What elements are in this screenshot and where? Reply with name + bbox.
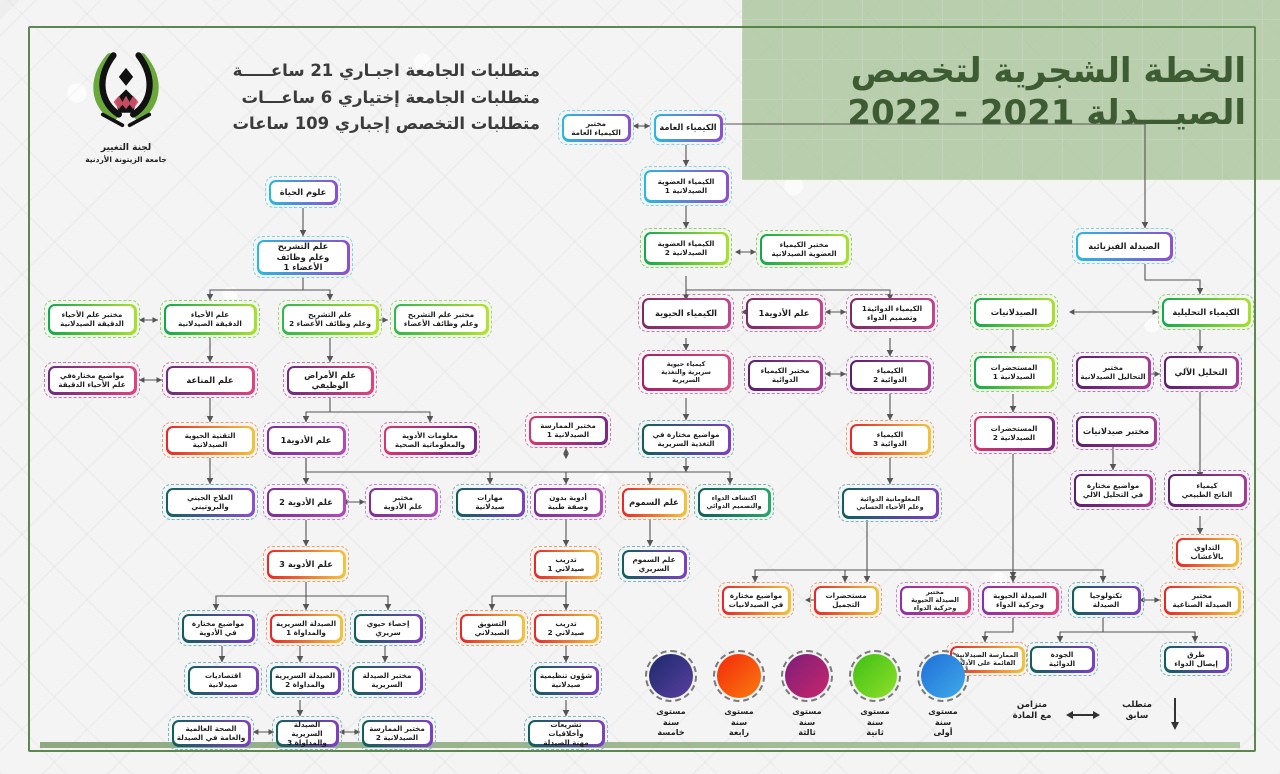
legend-color-circle xyxy=(713,650,765,702)
node-pharmacology-lab[interactable]: مختبر علم الأدوية xyxy=(365,484,441,520)
node-label: اكتشاف الدواء والتصميم الدوائي xyxy=(700,490,768,514)
node-pharmacoeconomics[interactable]: اقتصاديات صيدلانية xyxy=(184,662,262,698)
node-label: علم المناعة xyxy=(168,368,252,392)
node-clinical-pharmacy-1[interactable]: الصيدلة السريرية والمداواة 1 xyxy=(266,610,346,646)
node-label: كيمياء حيوية سريرية والتغذية السريرية xyxy=(644,356,728,388)
node-label: مستحضرات التجميل xyxy=(816,588,876,612)
node-label: التسويق الصيدلاني xyxy=(462,616,522,640)
legend-item-year2: مستوى سنة ثانية xyxy=(844,650,906,738)
node-label: تدريب صيدلاني 2 xyxy=(536,616,596,640)
node-label: الكيمياء الحيوية xyxy=(644,300,728,326)
node-natural-products[interactable]: كيمياء الناتج الطبيعي xyxy=(1164,470,1250,510)
node-pharmacy-practice-lab-2[interactable]: مختبر الممارسة الصيدلانية 2 xyxy=(358,716,436,750)
node-label: مختبر علم الأحياء الدقيقة الصيدلانية xyxy=(50,306,134,332)
node-label: التقنية الحيوية الصيدلانية xyxy=(168,428,252,452)
node-organic-chem-1[interactable]: الكيمياء العضوية الصيدلانية 1 xyxy=(640,166,732,206)
legend-label: مستوى سنة خامسة xyxy=(640,706,702,738)
node-pharmaceutics[interactable]: الصيدلانيات xyxy=(970,294,1058,330)
node-pharmacy-practice-lab-1[interactable]: مختبر الممارسة الصيدلانية 1 xyxy=(525,412,611,448)
node-label: علم الأدوية1 xyxy=(748,300,820,326)
node-label: العلاج الجيني والبروتيني xyxy=(168,490,252,514)
node-drug-selected-topics[interactable]: مواضيع مختارة في الأدوية xyxy=(178,610,258,646)
node-pharmacology-2[interactable]: علم الأدوية 2 xyxy=(263,484,349,520)
node-label: الصحة العالمية والعامة في الصيدلة xyxy=(174,722,248,744)
node-label: معلومات الأدوية والمعلوماتية الصحية xyxy=(386,428,474,452)
node-immunology[interactable]: علم المناعة xyxy=(162,362,258,398)
node-label: تشريعات وأخلاقيات مهنة الصيدلة xyxy=(530,722,602,744)
node-label: الكيمياء العامة xyxy=(656,116,720,139)
node-label: علم الأدوية 3 xyxy=(269,552,343,576)
legend-color-circle xyxy=(645,650,697,702)
node-label: اقتصاديات صيدلانية xyxy=(190,668,256,692)
node-label: الصيدلة الحيوية وحركية الدواء xyxy=(984,588,1056,612)
node-label: الصيدلة السريرية والمداواة 2 xyxy=(272,668,338,692)
node-pharmacology-3[interactable]: علم الأدوية 3 xyxy=(263,546,349,582)
node-pharmacy-skills[interactable]: مهارات صيدلانية xyxy=(452,484,528,520)
requirements-summary: متطلبات الجامعة اجبـاري 21 ساعـــــة متط… xyxy=(180,58,540,138)
node-instrumental-topics[interactable]: مواضيع مختارة في التحليل الالي xyxy=(1070,470,1156,510)
prerequisite-arrow-icon xyxy=(1168,696,1182,730)
node-label: مختبر علم التشريح وعلم وظائف الأعضاء xyxy=(396,306,486,332)
node-label: الكيمياء التحليلية xyxy=(1164,300,1248,324)
corequisite-arrow-icon xyxy=(1066,708,1100,722)
node-label: مختبر الكيمياء العامة xyxy=(564,116,628,139)
node-analytical-chemistry[interactable]: الكيمياء التحليلية xyxy=(1158,294,1254,330)
node-field-training-1[interactable]: تدريب صيدلاني 1 xyxy=(530,546,602,582)
node-pharmaceutics-lab[interactable]: مختبر صيدلانيات xyxy=(1072,412,1160,450)
node-industrial-pharmacy-lab[interactable]: مختبر الصيدلة الصناعية xyxy=(1160,582,1244,618)
node-clinical-pharmacy-3[interactable]: الصيدلة السريرية والمداواة 3 xyxy=(272,716,342,750)
node-label: الكيمياء العضوية الصيدلانية 2 xyxy=(646,234,726,262)
node-biopharm-lab[interactable]: مختبر الصيدلة الحيوية وحركية الدواء xyxy=(896,582,974,618)
node-biotechnology[interactable]: التقنية الحيوية الصيدلانية xyxy=(162,422,258,458)
legend-item-year1: مستوى سنة أولى xyxy=(912,650,974,738)
node-regulatory-affairs[interactable]: شؤون تنظيمية صيدلانية xyxy=(530,662,602,698)
requirement-line-2: متطلبات الجامعة إختياري 6 ساعـــات xyxy=(180,85,540,112)
node-label: التحليل الآلي xyxy=(1166,358,1236,386)
node-label: مختبر الصيدلة الصناعية xyxy=(1166,588,1238,612)
node-organic-chem-lab[interactable]: مختبر الكيمياء العضوية الصيدلانية xyxy=(756,230,852,268)
node-med-chem-2[interactable]: الكيمياء الدوائية 2 xyxy=(846,356,934,394)
node-label: علم التشريح وعلم وظائف الأعضاء 2 xyxy=(284,306,376,332)
node-label: الكيمياء الدوائية 2 xyxy=(852,362,928,388)
node-anatomy-physiology-lab[interactable]: مختبر علم التشريح وعلم وظائف الأعضاء xyxy=(390,300,492,338)
node-biopharmaceutics[interactable]: الصيدلة الحيوية وحركية الدواء xyxy=(978,582,1062,618)
node-pharm-analysis-lab[interactable]: مختبر التحاليل الصيدلانية xyxy=(1072,352,1154,392)
node-clinical-nutrition-topics[interactable]: مواضيع مختارة في التغذية السريرية xyxy=(638,420,734,458)
node-label: مختبر التحاليل الصيدلانية xyxy=(1078,358,1148,386)
node-label: طرق إيصال الدواء xyxy=(1166,648,1226,670)
node-pharm-marketing[interactable]: التسويق الصيدلاني xyxy=(456,610,528,646)
node-label: مواضيع مختارة في الأدوية xyxy=(184,616,252,640)
node-instrumental-analysis[interactable]: التحليل الآلي xyxy=(1160,352,1242,392)
node-general-chemistry[interactable]: الكيمياء العامة xyxy=(650,110,726,145)
node-med-chem-1[interactable]: الكيمياء الدوائية1 وتصميم الدواء xyxy=(846,294,938,332)
node-clinical-pharmacy-lab[interactable]: مختبر الصيدلة السريرية xyxy=(348,662,426,698)
node-label: علم الأحياء الدقيقة الصيدلانية xyxy=(166,306,254,332)
node-label: المستحضرات الصيدلانية 2 xyxy=(976,418,1052,448)
page-title: الخطة الشجرية لتخصص الصيـــدلة 2021 - 20… xyxy=(760,50,1260,134)
node-label: كيمياء الناتج الطبيعي xyxy=(1170,476,1244,504)
relationship-legend: متزامن مع المادة متطلب سابق xyxy=(1000,690,1220,750)
node-label: الجودة الدوائية xyxy=(1032,648,1092,670)
node-label: إحصاء حيوي سريري xyxy=(356,616,420,640)
requirement-line-1: متطلبات الجامعة اجبـاري 21 ساعـــــة xyxy=(180,58,540,85)
node-label: تدريب صيدلاني 1 xyxy=(536,552,596,576)
legend-label: مستوى سنة أولى xyxy=(912,706,974,738)
legend-label: مستوى سنة ثالثة xyxy=(776,706,838,738)
logo-caption-committee: لجنة التغيير xyxy=(78,143,174,154)
legend-corequisite-label: متزامن مع المادة xyxy=(1000,700,1064,722)
node-label: مختبر الكيمياء الدوائية xyxy=(750,362,820,388)
node-pharmacology-1-left[interactable]: علم الأدوية1 xyxy=(263,422,349,458)
node-biochemistry[interactable]: الكيمياء الحيوية xyxy=(638,294,734,332)
node-herbal-medicine[interactable]: التداوي بالأعشاب xyxy=(1172,534,1242,570)
node-med-chem-3[interactable]: الكيمياء الدوائية 3 xyxy=(846,420,934,458)
node-label: شؤون تنظيمية صيدلانية xyxy=(536,668,596,692)
node-drug-information[interactable]: معلومات الأدوية والمعلوماتية الصحية xyxy=(380,422,480,458)
node-label: مختبر الممارسة الصيدلانية 1 xyxy=(531,418,605,442)
node-label: علوم الحياة xyxy=(271,182,335,202)
node-clinical-biochem-nutrition[interactable]: كيمياء حيوية سريرية والتغذية السريرية xyxy=(638,350,734,394)
node-pharmaceutics-topics[interactable]: مواضيع مختارة في الصيدلانيات xyxy=(718,582,794,618)
node-label: علم التشريح وعلم وظائف الأعضاء 1 xyxy=(259,242,347,272)
year-level-legend: مستوى سنة خامسة مستوى سنة رابعة مستوى سن… xyxy=(640,640,980,750)
infographic-canvas: الخطة الشجرية لتخصص الصيـــدلة 2021 - 20… xyxy=(0,0,1280,774)
university-logo: لجنة التغيير جامعة الزيتونة الأردنية xyxy=(78,50,174,162)
node-field-training-2[interactable]: تدريب صيدلاني 2 xyxy=(530,610,602,646)
legend-label: مستوى سنة رابعة xyxy=(708,706,770,738)
node-label: مختبر الصيدلة السريرية xyxy=(354,668,420,692)
node-label: مختبر الممارسة الصيدلانية 2 xyxy=(364,722,430,744)
legend-item-year5: مستوى سنة خامسة xyxy=(640,650,702,738)
node-life-sciences[interactable]: علوم الحياة xyxy=(265,176,341,208)
node-clinical-pharmacy-2[interactable]: الصيدلة السريرية والمداواة 2 xyxy=(266,662,344,698)
node-global-health[interactable]: الصحة العالمية والعامة في الصيدلة xyxy=(168,716,254,750)
node-label: مختبر علم الأدوية xyxy=(371,490,435,514)
node-drug-delivery[interactable]: طرق إيصال الدواء xyxy=(1160,642,1232,676)
legend-color-circle xyxy=(781,650,833,702)
node-pharm-preparations-1[interactable]: المستحضرات الصيدلانية 1 xyxy=(970,352,1058,392)
node-otc-drugs[interactable]: أدوية بدون وصفة طبية xyxy=(530,484,606,520)
node-label: المستحضرات الصيدلانية 1 xyxy=(976,358,1052,386)
node-label: مختبر الصيدلة الحيوية وحركية الدواء xyxy=(902,588,968,612)
node-legislation-ethics[interactable]: تشريعات وأخلاقيات مهنة الصيدلة xyxy=(524,716,608,750)
title-line-2: الصيـــدلة 2021 - 2022 xyxy=(760,92,1260,134)
node-micro-selected-topics[interactable]: مواضيع مختارةفي علم الأحياء الدقيقة xyxy=(44,362,140,398)
node-pharmacoinformatics[interactable]: المعلوماتية الدوائية وعلم الأحياء الحساب… xyxy=(838,484,942,522)
node-label: مهارات صيدلانية xyxy=(458,490,522,514)
node-label: الكيمياء الدوائية1 وتصميم الدواء xyxy=(852,300,932,326)
legend-item-year4: مستوى سنة رابعة xyxy=(708,650,770,738)
node-label: أدوية بدون وصفة طبية xyxy=(536,490,600,514)
node-label: مختبر صيدلانيات xyxy=(1078,418,1154,444)
legend-prerequisite-label: متطلب سابق xyxy=(1112,700,1162,722)
legend-label: مستوى سنة ثانية xyxy=(844,706,906,738)
node-clinical-toxicology[interactable]: علم السموم السريري xyxy=(618,546,690,582)
node-label: الكيمياء العضوية الصيدلانية 1 xyxy=(646,172,726,200)
node-label: مختبر الكيمياء العضوية الصيدلانية xyxy=(762,236,846,262)
node-label: الصيدلة الفيزيائية xyxy=(1078,234,1170,258)
node-biostatistics[interactable]: إحصاء حيوي سريري xyxy=(350,610,426,646)
node-pharm-microbiology-lab[interactable]: مختبر علم الأحياء الدقيقة الصيدلانية xyxy=(44,300,140,338)
node-drug-discovery[interactable]: اكتشاف الدواء والتصميم الدوائي xyxy=(694,484,774,520)
node-pharmacology-1-mid[interactable]: علم الأدوية1 xyxy=(742,294,826,332)
node-drug-quality[interactable]: الجودة الدوائية xyxy=(1026,642,1098,676)
node-label: تكنولوجيا الصيدلة xyxy=(1074,588,1138,612)
node-pathophysiology[interactable]: علم الأمراض الوظيفي xyxy=(283,362,377,398)
node-pharm-technology[interactable]: تكنولوجيا الصيدلة xyxy=(1068,582,1144,618)
node-physical-pharmacy[interactable]: الصيدلة الفيزيائية xyxy=(1072,228,1176,264)
legend-color-circle xyxy=(849,650,901,702)
node-label: علم الأدوية 2 xyxy=(269,490,343,514)
node-label: الصيدلة السريرية والمداواة 3 xyxy=(278,722,336,744)
node-label: علم الأمراض الوظيفي xyxy=(289,368,371,392)
node-label: مواضيع مختارة في الصيدلانيات xyxy=(724,588,788,612)
node-pharm-preparations-2[interactable]: المستحضرات الصيدلانية 2 xyxy=(970,412,1058,454)
node-toxicology[interactable]: علم السموم xyxy=(618,484,690,520)
node-gene-protein-therapy[interactable]: العلاج الجيني والبروتيني xyxy=(162,484,258,520)
logo-caption-university: جامعة الزيتونة الأردنية xyxy=(78,155,174,164)
legend-item-year3: مستوى سنة ثالثة xyxy=(776,650,838,738)
node-label: الصيدلانيات xyxy=(976,300,1052,324)
node-label: الصيدلة السريرية والمداواة 1 xyxy=(272,616,340,640)
logo-emblem-icon xyxy=(78,50,174,136)
legend-color-circle xyxy=(917,650,969,702)
node-anatomy-physiology-2[interactable]: علم التشريح وعلم وظائف الأعضاء 2 xyxy=(278,300,382,338)
node-pharm-microbiology[interactable]: علم الأحياء الدقيقة الصيدلانية xyxy=(160,300,260,338)
node-label: الكيمياء الدوائية 3 xyxy=(852,426,928,452)
node-label: المعلوماتية الدوائية وعلم الأحياء الحساب… xyxy=(844,490,936,516)
node-label: مواضيع مختارة في التغذية السريرية xyxy=(644,426,728,452)
node-anatomy-physiology-1[interactable]: علم التشريح وعلم وظائف الأعضاء 1 xyxy=(253,236,353,278)
node-label: علم الأدوية1 xyxy=(269,428,343,452)
node-label: مواضيع مختارةفي علم الأحياء الدقيقة xyxy=(50,368,134,392)
node-label: مواضيع مختارة في التحليل الالي xyxy=(1076,476,1150,504)
node-general-chemistry-lab[interactable]: مختبر الكيمياء العامة xyxy=(558,110,634,145)
node-label: علم السموم السريري xyxy=(624,552,684,576)
node-label: علم السموم xyxy=(624,490,684,514)
node-cosmetics[interactable]: مستحضرات التجميل xyxy=(810,582,882,618)
requirement-line-3: متطلبات التخصص إجباري 109 ساعات xyxy=(180,111,540,138)
title-line-1: الخطة الشجرية لتخصص xyxy=(760,50,1260,92)
node-label: التداوي بالأعشاب xyxy=(1178,540,1236,564)
node-organic-chem-2[interactable]: الكيمياء العضوية الصيدلانية 2 xyxy=(640,228,732,268)
node-med-chem-lab[interactable]: مختبر الكيمياء الدوائية xyxy=(744,356,826,394)
